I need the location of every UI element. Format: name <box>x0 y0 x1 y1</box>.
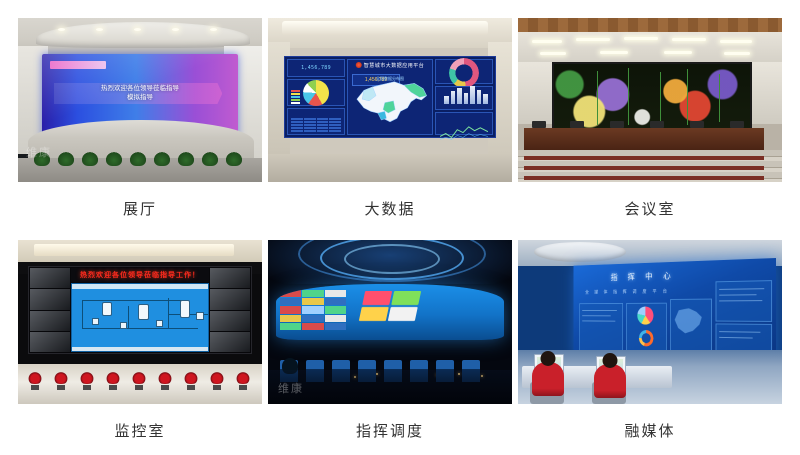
scada-toolbar <box>72 284 208 289</box>
table-cell <box>291 121 303 123</box>
ceiling-light-panel <box>282 21 488 35</box>
seat-row <box>524 166 764 170</box>
ceiling-light <box>576 38 610 41</box>
gallery-item-conference-room[interactable]: 会议室 <box>518 18 782 240</box>
line-chart <box>440 123 488 142</box>
floor <box>268 370 512 404</box>
operator-person <box>532 362 564 396</box>
ceiling-spotlight <box>58 28 65 31</box>
kpi-panel: 1,456,789 <box>287 59 345 77</box>
gallery-item-big-data[interactable]: 1,456,789 <box>268 18 512 240</box>
thumbnail-conference-room[interactable] <box>518 18 782 182</box>
welcome-banner-text: 热烈欢迎各位领导莅临指导工作！ <box>80 270 200 280</box>
thumbnail-big-data[interactable]: 1,456,789 <box>268 18 512 182</box>
desk-monitor <box>610 121 624 128</box>
legend-swatch <box>291 93 300 95</box>
valve <box>196 312 204 320</box>
planter <box>154 152 170 166</box>
bar <box>477 90 482 104</box>
wall-pie-chart <box>637 306 653 324</box>
screen-logo <box>50 61 106 69</box>
video-wall-dashboard: 1,456,789 <box>284 56 496 138</box>
valve <box>92 318 99 325</box>
scada-diagram <box>71 283 209 352</box>
flower-pot <box>52 372 70 390</box>
seat-row <box>524 176 764 180</box>
desk-monitor <box>730 121 744 128</box>
map-panel: 智慧城市大数据应用平台 1,456,789 全国数据分布图 <box>347 59 433 135</box>
legend-swatch <box>291 99 300 101</box>
table-cell <box>304 124 316 126</box>
video-wall: 热烈欢迎各位领导莅临指导工作！ <box>28 266 252 354</box>
gallery-item-exhibition-hall[interactable]: 热烈欢迎各位领导莅临指导 模拟指导 维康 展厅 <box>18 18 262 240</box>
watermark: 维康 <box>26 144 52 160</box>
screen-welcome-text: 热烈欢迎各位领导莅临指导 模拟指导 <box>42 84 238 102</box>
donut-chart-panel <box>435 59 493 84</box>
camera-feed <box>30 332 70 352</box>
desk-monitor <box>532 121 546 128</box>
thumbnail-exhibition-hall[interactable]: 热烈欢迎各位领导莅临指导 模拟指导 维康 <box>18 18 262 182</box>
ceiling-light <box>672 38 706 41</box>
table-cell <box>329 127 341 129</box>
bar <box>470 86 475 104</box>
tank <box>138 304 149 320</box>
flower-pot <box>182 372 200 390</box>
planter <box>226 152 242 166</box>
camera-feed <box>30 311 70 331</box>
flower-pot <box>78 372 96 390</box>
kpi-value: 1,456,789 <box>301 65 331 71</box>
data-table <box>291 118 341 131</box>
gallery-item-command-dispatch[interactable]: 维康 指挥调度 <box>268 240 512 445</box>
legend-swatch <box>291 102 300 104</box>
flower-pot <box>208 372 226 390</box>
caption-exhibition-hall: 展厅 <box>123 199 157 219</box>
seat-row <box>524 156 764 160</box>
bar <box>483 94 488 104</box>
table-cell <box>291 130 303 132</box>
table-cell <box>317 127 329 129</box>
flower-pot <box>130 372 148 390</box>
table-cell <box>329 124 341 126</box>
flower-pot <box>156 372 174 390</box>
planter <box>130 152 146 166</box>
table-cell <box>304 130 316 132</box>
desk-monitor <box>570 121 584 128</box>
table-cell <box>329 121 341 123</box>
presidium-desk <box>524 128 764 150</box>
china-map <box>346 73 434 127</box>
table-cell <box>291 118 303 120</box>
video-wall-subtitle: 全 媒 体 指 挥 调 度 平 台 <box>585 288 669 296</box>
table-cell <box>291 127 303 129</box>
dashboard-right-column <box>435 59 493 135</box>
screen-logo <box>359 291 421 321</box>
screen-welcome-line1: 热烈欢迎各位领导莅临指导 <box>42 84 238 93</box>
platform-logo-icon <box>356 62 362 68</box>
ceiling-light <box>600 51 628 54</box>
table-cell <box>291 124 303 126</box>
desk-monitor <box>650 121 664 128</box>
camera-feed <box>210 311 250 331</box>
flower-pot <box>234 372 252 390</box>
table-cell <box>304 127 316 129</box>
floor <box>268 154 512 182</box>
wall-donut-chart <box>639 330 654 347</box>
desk-monitor <box>690 121 704 128</box>
camera-feed <box>30 268 70 288</box>
bar <box>457 88 462 104</box>
table-cell <box>317 118 329 120</box>
table-cell <box>317 124 329 126</box>
data-table-panel <box>287 108 345 135</box>
bar <box>444 96 449 104</box>
screen-data-panels <box>280 290 346 330</box>
curved-led-screen <box>276 284 504 340</box>
scada-statusbar <box>72 347 208 351</box>
camera-feed <box>30 289 70 309</box>
ceiling-cove-light <box>34 244 234 256</box>
caption-monitoring-room: 监控室 <box>114 421 165 441</box>
person-head <box>541 351 556 366</box>
pie-chart-panel <box>287 79 345 106</box>
ceiling-light <box>540 52 566 55</box>
thumbnail-converged-media[interactable]: 指 挥 中 心 全 媒 体 指 挥 调 度 平 台 <box>518 240 782 404</box>
camera-feeds-left <box>30 268 70 352</box>
caption-converged-media: 融媒体 <box>624 421 675 441</box>
flower-pot <box>104 372 122 390</box>
planter <box>202 152 218 166</box>
table-cell <box>304 118 316 120</box>
gallery-item-converged-media[interactable]: 指 挥 中 心 全 媒 体 指 挥 调 度 平 台 <box>518 240 782 445</box>
planter <box>58 152 74 166</box>
gallery-item-monitoring-room[interactable]: 热烈欢迎各位领导莅临指导工作！ <box>18 240 262 445</box>
ceiling-spotlight <box>172 28 179 31</box>
planter <box>178 152 194 166</box>
ceiling-light <box>664 51 692 54</box>
ceiling-ring-light <box>534 242 626 262</box>
caption-command-dispatch: 指挥调度 <box>356 421 424 441</box>
video-wall-title: 指 挥 中 心 <box>611 269 675 283</box>
flower-pot <box>26 372 44 390</box>
bar-chart-panel <box>435 86 493 109</box>
screen-welcome-line2: 模拟指导 <box>42 93 238 102</box>
caption-big-data: 大数据 <box>364 199 415 219</box>
bar <box>464 93 469 104</box>
valve <box>120 322 127 329</box>
ceiling-spotlight <box>134 28 141 31</box>
ceiling-ring <box>344 244 440 274</box>
table-cell <box>304 121 316 123</box>
pie-chart <box>303 80 329 106</box>
dashboard-title: 智慧城市大数据应用平台 <box>356 62 425 69</box>
image-gallery: 热烈欢迎各位领导莅临指导 模拟指导 维康 展厅 <box>0 0 800 455</box>
ceiling-spotlight <box>96 28 103 31</box>
camera-feed <box>210 289 250 309</box>
table-cell <box>317 121 329 123</box>
ceiling-light <box>532 40 562 43</box>
table-cell <box>329 130 341 132</box>
planter <box>82 152 98 166</box>
ceiling-light <box>624 37 658 40</box>
center-display-stack: 热烈欢迎各位领导莅临指导工作！ <box>71 268 209 352</box>
person-head <box>603 353 618 368</box>
tank <box>102 302 112 316</box>
pie-legend <box>291 90 300 104</box>
led-video-wall: 指 挥 中 心 全 媒 体 指 挥 调 度 平 台 <box>574 258 776 364</box>
ceiling-light <box>720 40 752 43</box>
caption-conference-room: 会议室 <box>624 199 675 219</box>
thumbnail-monitoring-room[interactable]: 热烈欢迎各位领导莅临指导工作！ <box>18 240 262 404</box>
legend-swatch <box>291 96 300 98</box>
legend-swatch <box>291 90 300 92</box>
camera-feed <box>210 332 250 352</box>
bar <box>451 91 456 103</box>
tank <box>180 300 190 318</box>
bar-chart <box>444 84 488 104</box>
operator-person <box>594 364 626 398</box>
camera-feeds-right <box>210 268 250 352</box>
wood-ceiling <box>518 18 782 32</box>
line-chart-panel <box>435 112 493 135</box>
valve <box>156 320 163 327</box>
planter <box>106 152 122 166</box>
camera-feed <box>210 268 250 288</box>
table-cell <box>317 130 329 132</box>
welcome-banner: 热烈欢迎各位领导莅临指导工作！ <box>71 268 209 282</box>
ceiling-spotlight <box>210 28 217 31</box>
dashboard-title-text: 智慧城市大数据应用平台 <box>364 63 425 69</box>
ceiling-light <box>724 52 750 55</box>
thumbnail-command-dispatch[interactable]: 维康 <box>268 240 512 404</box>
table-cell <box>329 118 341 120</box>
dashboard-left-column: 1,456,789 <box>287 59 345 135</box>
watermark: 维康 <box>278 380 304 396</box>
